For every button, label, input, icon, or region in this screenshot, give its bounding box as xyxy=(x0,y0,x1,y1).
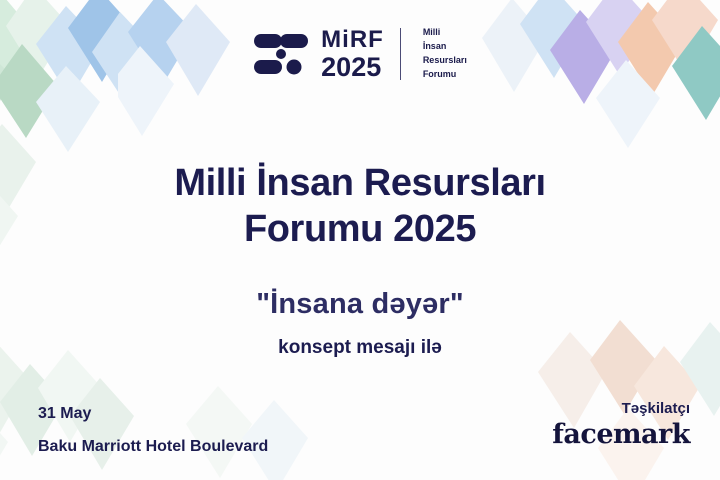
event-slogan: "İnsana dəyər" xyxy=(0,288,720,321)
logo-divider xyxy=(400,28,401,80)
decor-petal-bottomcenter xyxy=(178,376,378,480)
logo-wordmark: MiRF 2025 xyxy=(321,28,384,81)
event-logo: MiRF 2025 Milli İnsan Resursları Forumu xyxy=(0,26,720,82)
logo-year: 2025 xyxy=(321,54,384,81)
organizer-logo: facemark xyxy=(552,419,690,450)
logo-title: MiRF xyxy=(321,28,384,52)
event-date: 31 May xyxy=(38,405,91,423)
logo-subtitle-line-2: İnsan xyxy=(423,40,467,54)
mirf-flower-mark-icon xyxy=(253,26,309,82)
organizer-block: Təşkilatçı facemark xyxy=(552,400,690,450)
logo-subtitle-line-1: Milli xyxy=(423,26,467,40)
concept-message: konsept mesajı ilə xyxy=(0,337,720,359)
logo-subtitle-line-4: Forumu xyxy=(423,68,467,82)
headline-line-1: Milli İnsan Resursları xyxy=(0,160,720,206)
page-title: Milli İnsan Resursları Forumu 2025 xyxy=(0,160,720,253)
logo-subtitle-line-3: Resursları xyxy=(423,54,467,68)
headline-line-2: Forumu 2025 xyxy=(0,206,720,252)
event-venue: Baku Marriott Hotel Boulevard xyxy=(38,438,268,456)
poster-canvas: MiRF 2025 Milli İnsan Resursları Forumu … xyxy=(0,0,720,480)
logo-subtitle: Milli İnsan Resursları Forumu xyxy=(423,26,467,82)
organizer-label: Təşkilatçı xyxy=(552,400,690,417)
